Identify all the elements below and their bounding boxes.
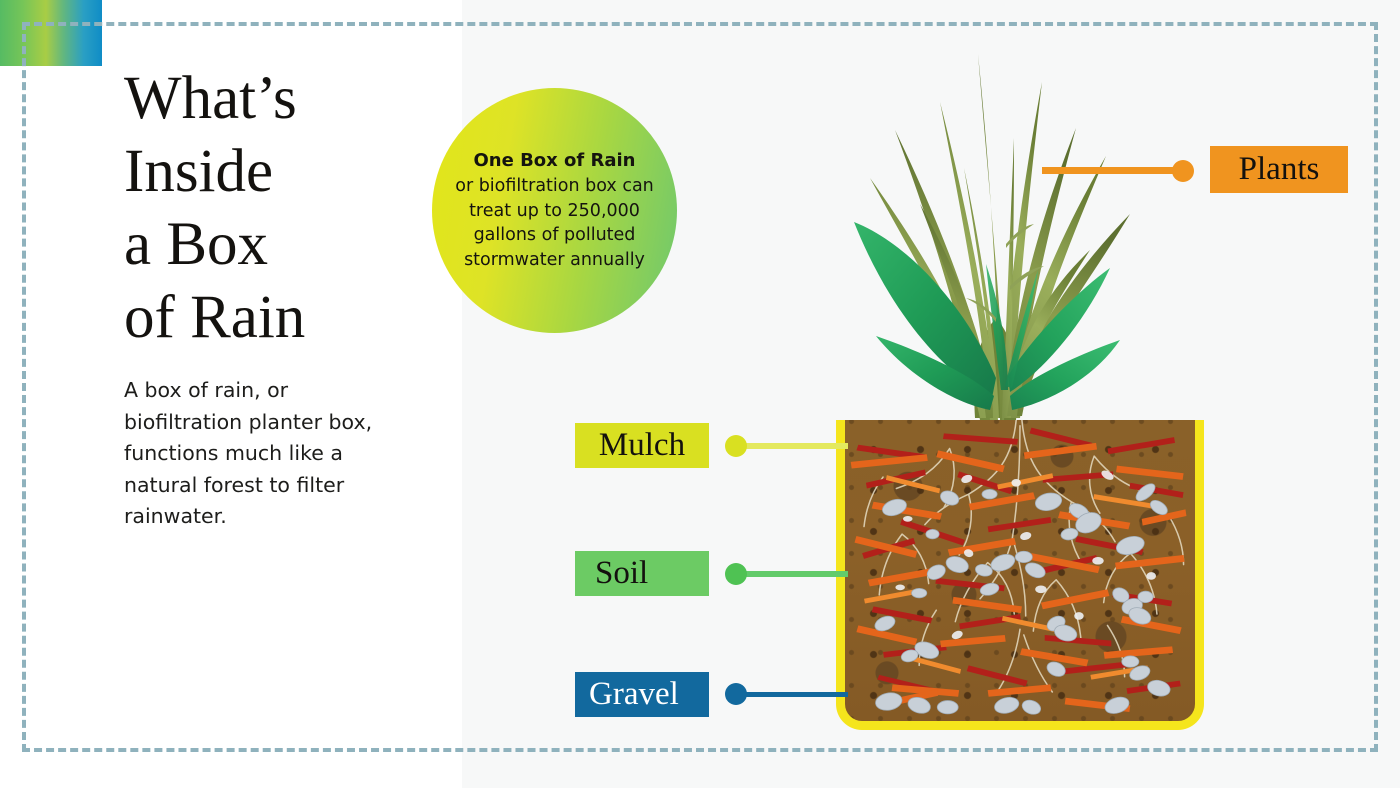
title-line-3: a Box: [124, 208, 434, 281]
callout-label-mulch[interactable]: Mulch: [575, 423, 709, 468]
callout-label-soil-text: Soil: [575, 557, 664, 590]
leader-dot-gravel: [725, 683, 747, 705]
planter-box-illustration: [836, 420, 1204, 730]
plant-svg: [800, 18, 1200, 438]
callout-label-plants-text: Plants: [1223, 153, 1336, 186]
infographic-slide: What’s Inside a Box of Rain A box of rai…: [0, 0, 1400, 788]
stat-circle-text: or biofiltration box can treat up to 250…: [455, 176, 654, 270]
callout-label-soil[interactable]: Soil: [575, 551, 709, 596]
callout-label-plants[interactable]: Plants: [1210, 146, 1348, 193]
leader-line-gravel: [736, 692, 848, 697]
leader-dot-mulch: [725, 435, 747, 457]
gravel-stones: [845, 420, 1195, 715]
stat-circle: One Box of Rain or biofiltration box can…: [432, 88, 677, 333]
callout-label-mulch-text: Mulch: [583, 429, 701, 462]
intro-paragraph: A box of rain, or biofiltration planter …: [124, 375, 394, 533]
leader-line-plants: [1042, 167, 1182, 174]
callout-label-gravel[interactable]: Gravel: [575, 672, 709, 717]
leader-dot-soil: [725, 563, 747, 585]
leader-line-mulch: [736, 443, 848, 449]
title-line-1: What’s: [124, 62, 434, 135]
leader-line-soil: [736, 571, 848, 577]
leader-dot-plants: [1172, 160, 1194, 182]
callout-label-gravel-text: Gravel: [575, 678, 695, 711]
planter-shell: [836, 420, 1204, 730]
plant-illustration: [800, 18, 1200, 438]
stat-circle-headline: One Box of Rain: [447, 149, 662, 175]
title-line-4: of Rain: [124, 281, 434, 354]
stat-circle-content: One Box of Rain or biofiltration box can…: [447, 149, 662, 273]
title-line-2: Inside: [124, 135, 434, 208]
page-title: What’s Inside a Box of Rain: [124, 62, 434, 354]
